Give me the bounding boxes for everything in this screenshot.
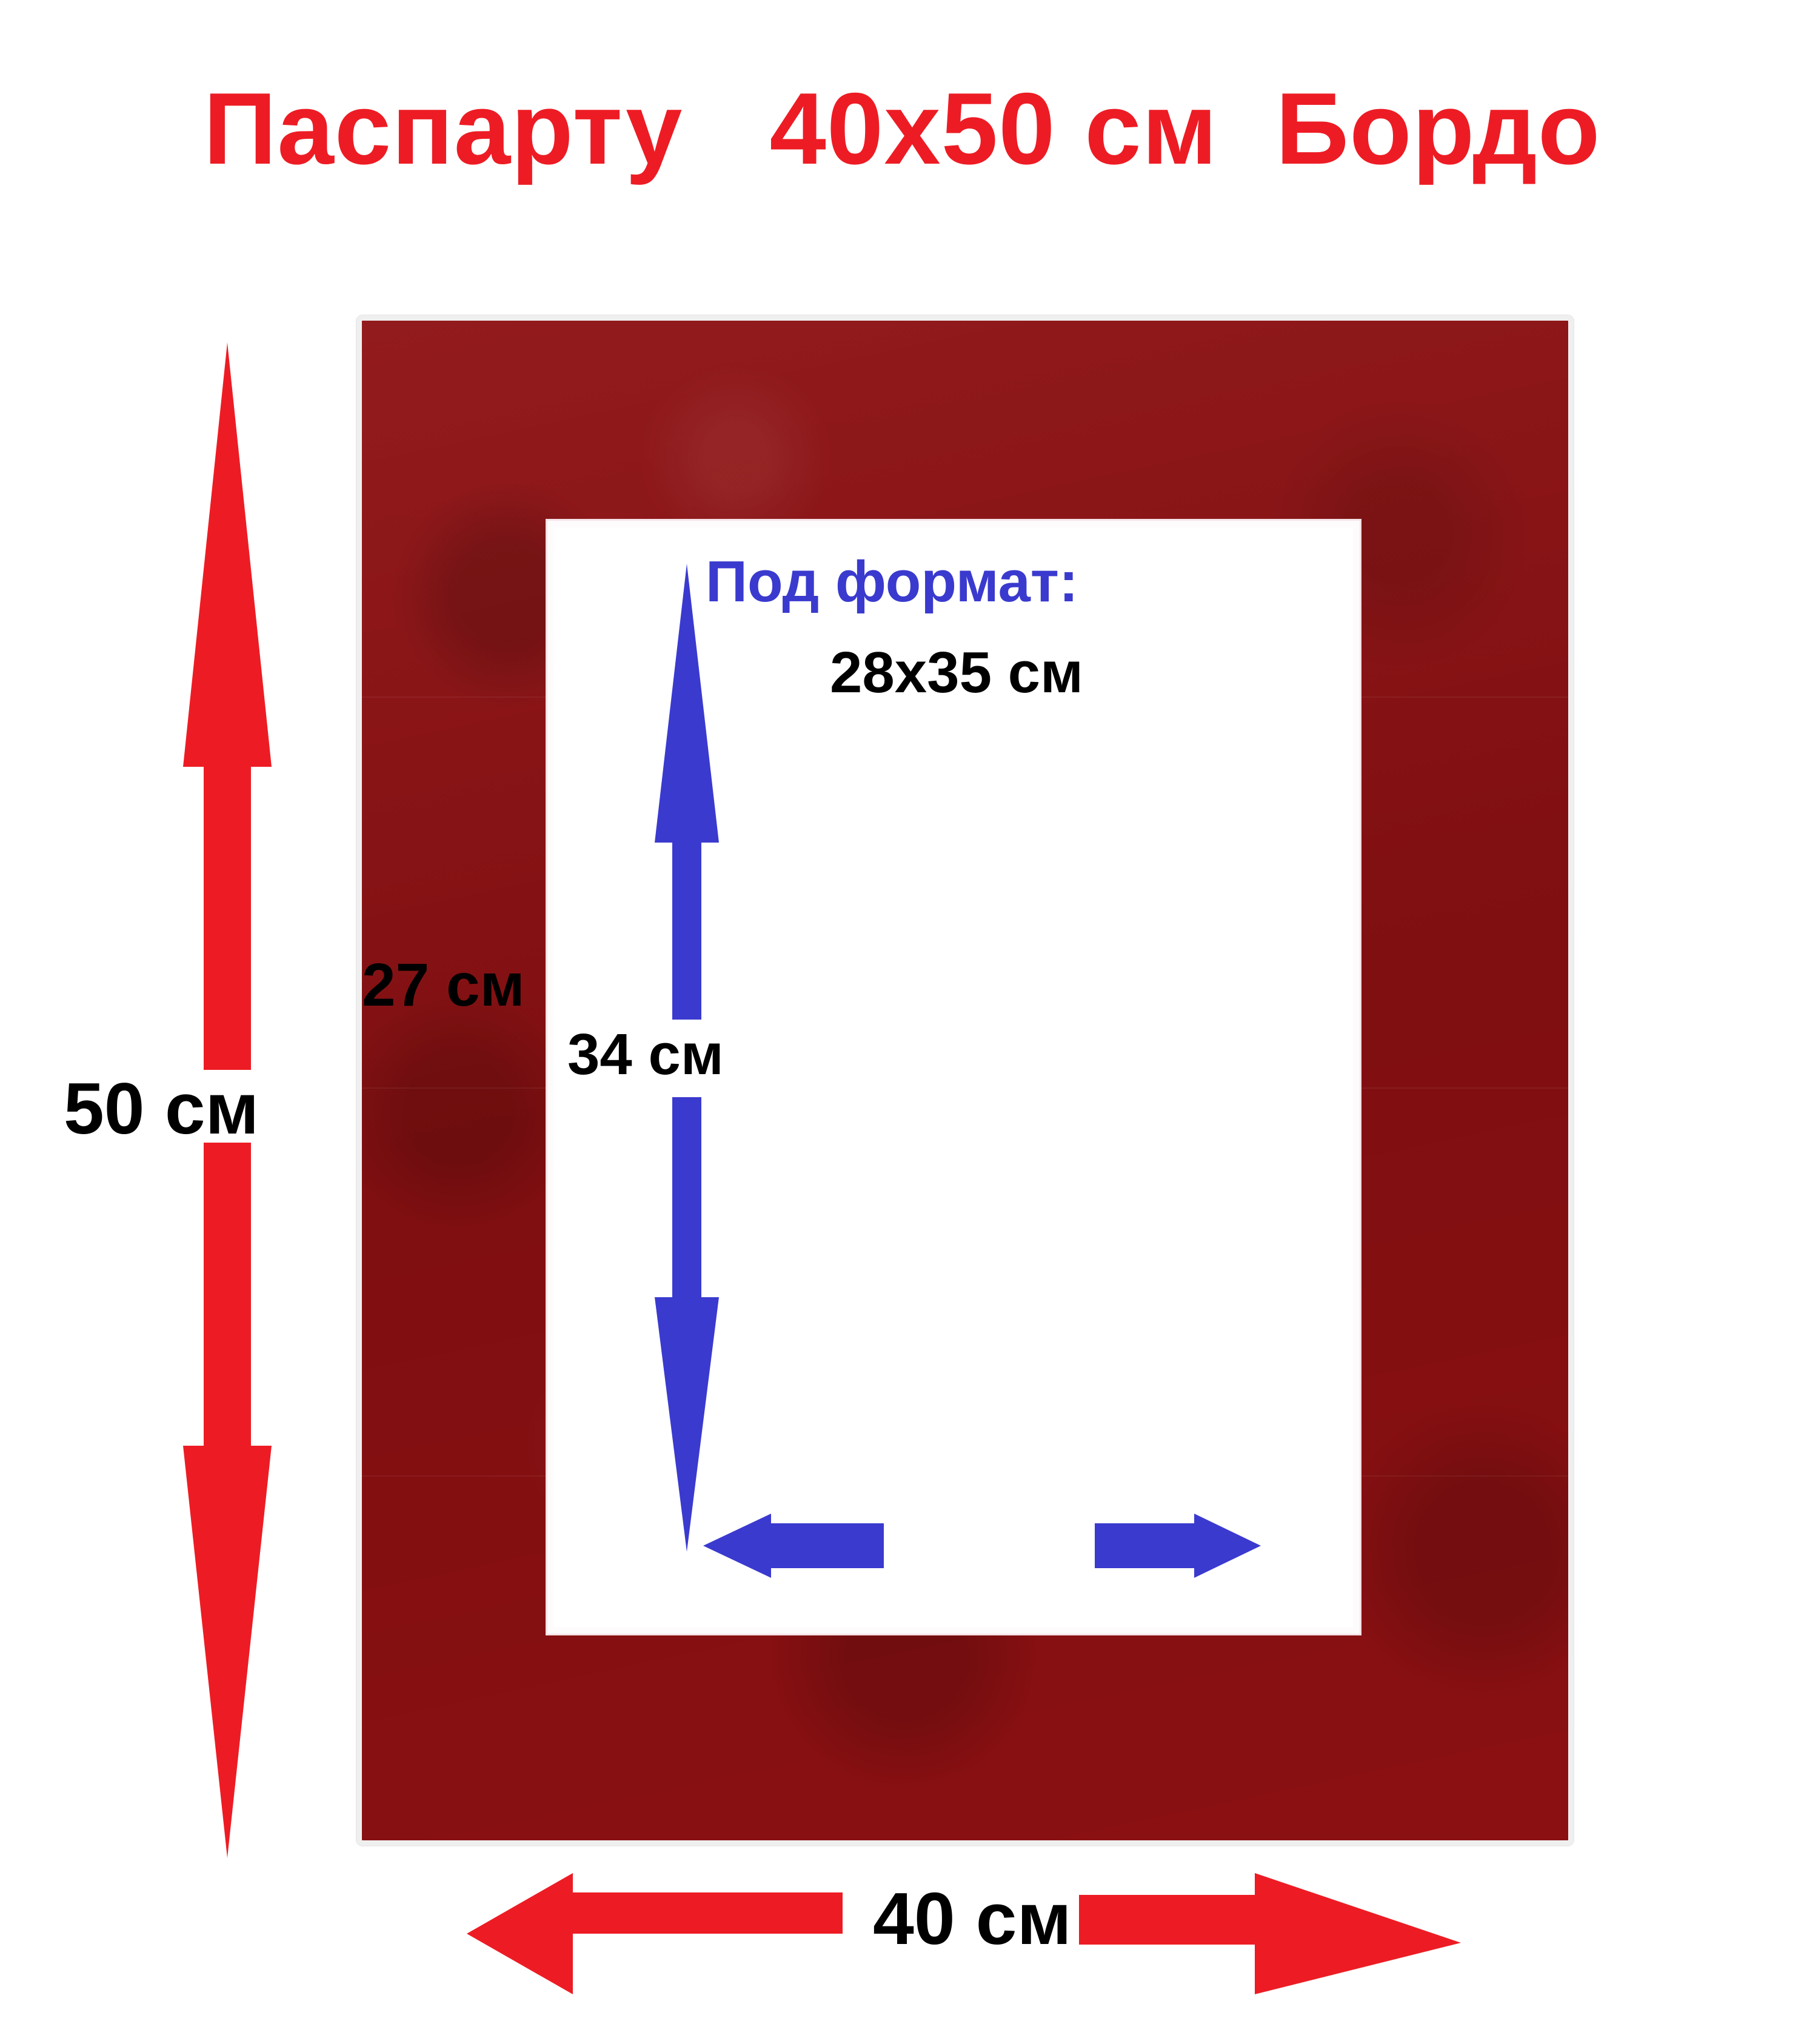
diagram-canvas: Паспарту 40x50 см Бордо Под формат: 28x3… [0, 0, 1804, 2044]
double-arrow-vertical-inner-icon [647, 564, 726, 1552]
outer-width-label: 40 см [873, 1876, 1072, 1961]
window-format-value: 28x35 см [830, 640, 1083, 706]
window-format-label: Под формат: [706, 549, 1078, 615]
outer-height-label: 50 см [64, 1067, 259, 1151]
window-width-label: 27 см [362, 950, 525, 1020]
mat-board: Под формат: 28x35 см 34 см [356, 315, 1574, 1846]
page-title: Паспарту 40x50 см Бордо [0, 73, 1804, 185]
double-arrow-horizontal-inner-icon [703, 1503, 1261, 1588]
